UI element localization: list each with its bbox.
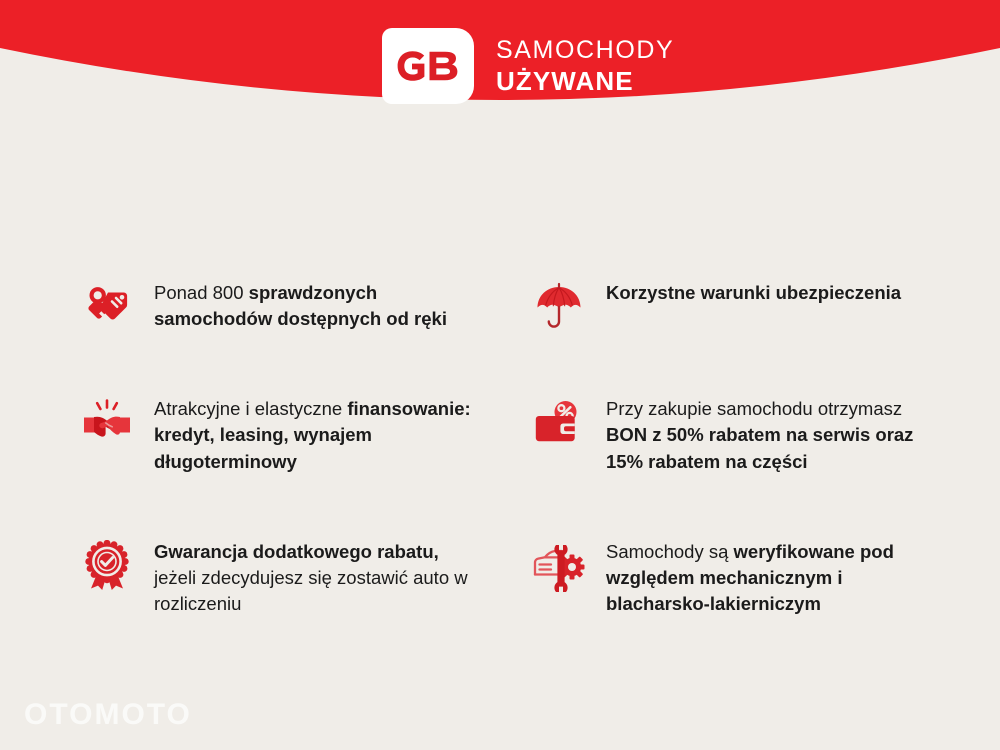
feature-item-inspection: Samochody są weryfikowane pod względem m… <box>530 537 958 618</box>
feature-item-extra-discount: Gwarancja dodatkowego rabatu, jeżeli zde… <box>78 537 530 618</box>
promo-banner-page: SAMOCHODY UŻYWANE <box>0 0 1000 750</box>
feature-item-service-voucher: Przy zakupie samochodu otrzymasz BON z 5… <box>530 394 958 475</box>
feature-text: Atrakcyjne i elastyczne finansowanie: kr… <box>154 394 484 475</box>
feature-item-insurance: Korzystne warunki ubezpieczenia <box>530 278 958 336</box>
car-wrench-gear-icon <box>530 537 588 595</box>
wallet-percent-icon <box>530 394 588 452</box>
key-with-tag-icon <box>78 278 136 336</box>
feature-text-bold: Gwarancja dodatkowego rabatu, <box>154 541 439 562</box>
brand-line-1: SAMOCHODY <box>496 38 674 63</box>
gb-logo-icon <box>395 49 461 83</box>
feature-text-bold: Korzystne warunki ubezpieczenia <box>606 282 901 303</box>
feature-text-plain: Ponad 800 <box>154 282 249 303</box>
feature-text-bold: BON z 50% rabatem na serwis oraz 15% rab… <box>606 424 913 471</box>
gb-logo-tile <box>382 28 474 104</box>
otomoto-watermark: OTOMOTO <box>24 698 192 732</box>
feature-item-financing: Atrakcyjne i elastyczne finansowanie: kr… <box>78 394 530 475</box>
feature-text: Samochody są weryfikowane pod względem m… <box>606 537 946 618</box>
feature-text: Przy zakupie samochodu otrzymasz BON z 5… <box>606 394 946 475</box>
feature-text-plain: Atrakcyjne i elastyczne <box>154 398 347 419</box>
feature-list: Ponad 800 sprawdzonych samochodów dostęp… <box>78 278 958 618</box>
feature-text-plain: Samochody są <box>606 541 734 562</box>
feature-text-plain: jeżeli zdecydujesz się zostawić auto w r… <box>154 567 468 614</box>
brand-wordmark: SAMOCHODY UŻYWANE <box>496 38 674 94</box>
feature-text: Gwarancja dodatkowego rabatu, jeżeli zde… <box>154 537 484 618</box>
feature-text: Korzystne warunki ubezpieczenia <box>606 278 901 306</box>
feature-item-cars-available: Ponad 800 sprawdzonych samochodów dostęp… <box>78 278 530 336</box>
handshake-icon <box>78 394 136 452</box>
brand-lockup: SAMOCHODY UŻYWANE <box>382 28 674 104</box>
brand-line-2: UŻYWANE <box>496 68 674 94</box>
award-rosette-icon <box>78 537 136 595</box>
feature-text: Ponad 800 sprawdzonych samochodów dostęp… <box>154 278 484 333</box>
umbrella-icon <box>530 278 588 336</box>
feature-text-plain: Przy zakupie samochodu otrzymasz <box>606 398 902 419</box>
